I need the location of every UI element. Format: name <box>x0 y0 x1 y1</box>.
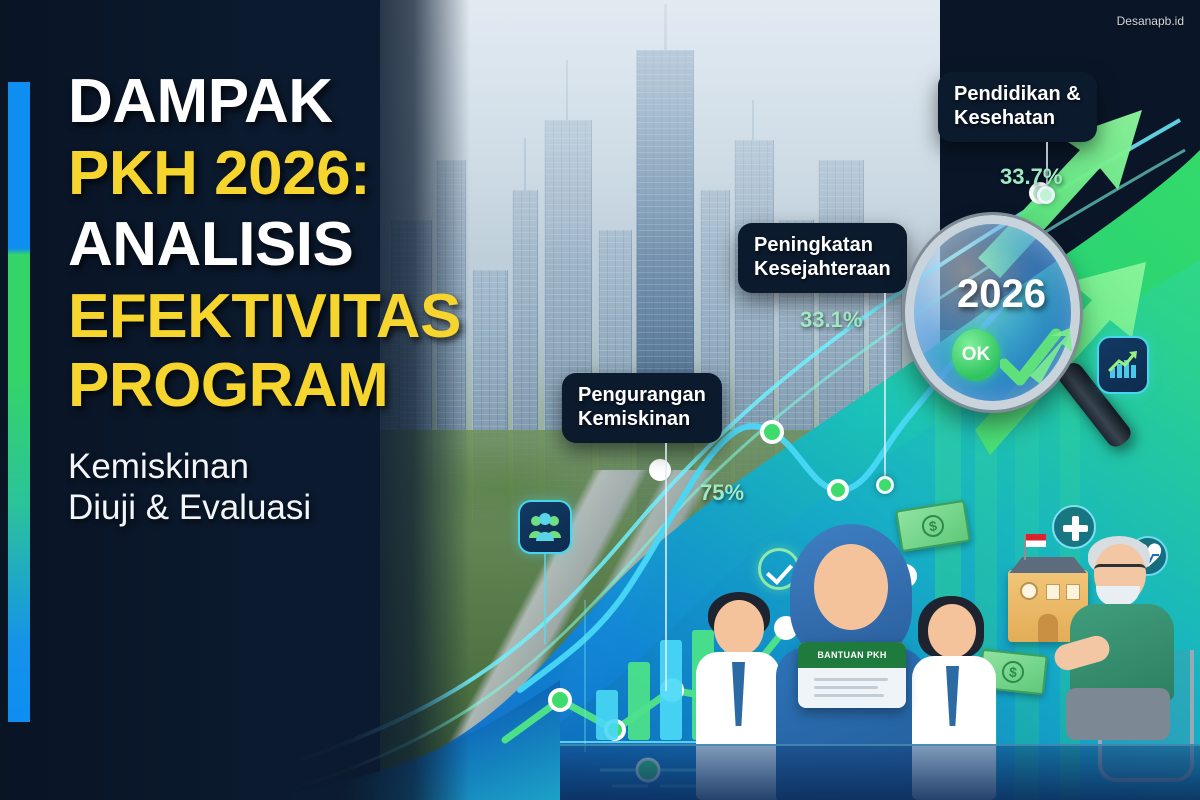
magnifier-icon: 2026 OK <box>905 215 1105 430</box>
title-block: DAMPAK PKH 2026: ANALISIS EFEKTIVITAS PR… <box>68 72 468 528</box>
bottom-plinth <box>560 744 1200 800</box>
boy-head <box>714 600 764 656</box>
bantuan-pkh-card: BANTUAN PKH <box>798 642 906 708</box>
subtitle-line-1: Kemiskinan <box>68 446 468 487</box>
girl-head <box>928 604 976 658</box>
title-line-5: PROGRAM <box>68 356 468 416</box>
accent-bar <box>8 82 30 722</box>
callout-connector-poverty <box>665 443 667 691</box>
watermark: Desanapb.id <box>1117 14 1184 28</box>
checkmark-arrow-icon <box>1000 320 1080 400</box>
value-education-health: 33.7% <box>1000 164 1062 190</box>
ok-badge: OK <box>952 329 1000 381</box>
school-clock-icon <box>1020 582 1038 600</box>
elder-legs <box>1066 688 1170 740</box>
people-icon <box>518 500 572 554</box>
magnifier-year-label: 2026 <box>914 272 1089 317</box>
poster-canvas: DAMPAK PKH 2026: ANALISIS EFEKTIVITAS PR… <box>0 0 1200 800</box>
title-line-3: ANALISIS <box>68 215 468 275</box>
callout-poverty-reduction: Pengurangan Kemiskinan <box>562 373 722 443</box>
subtitle: Kemiskinan Diuji & Evaluasi <box>68 446 468 529</box>
bantuan-pkh-label: BANTUAN PKH <box>798 642 906 668</box>
growth-chart-icon <box>1097 336 1149 394</box>
title-line-4: EFEKTIVITAS <box>68 287 468 347</box>
mother-face <box>814 544 888 630</box>
callout-welfare-increase: Peningkatan Kesejahteraan <box>738 223 907 293</box>
callout-education-health: Pendidikan & Kesehatan <box>938 72 1097 142</box>
value-welfare-increase: 33.1% <box>800 307 862 333</box>
elder-beard <box>1096 586 1140 606</box>
callout-connector-welfare <box>884 293 886 483</box>
magnifier-lens: 2026 OK <box>905 215 1080 410</box>
title-line-2: PKH 2026: <box>68 144 468 204</box>
elder-glasses <box>1094 564 1146 578</box>
subtitle-line-2: Diuji & Evaluasi <box>68 487 468 528</box>
people-icon-stem <box>544 554 546 644</box>
title-line-1: DAMPAK <box>68 72 468 132</box>
callout-dot-welfare <box>876 476 894 494</box>
